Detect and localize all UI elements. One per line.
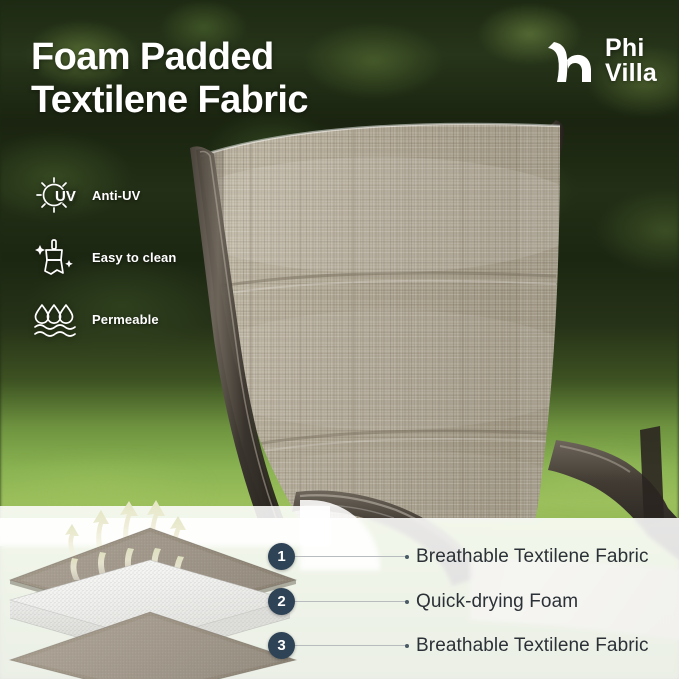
phi-villa-h-mark — [544, 36, 598, 86]
callout-layer-3: 3 Breathable Textilene Fabric — [268, 632, 649, 659]
leader-line-1 — [295, 556, 407, 557]
layer-label-3: Breathable Textilene Fabric — [416, 635, 649, 657]
feature-list: UV Anti-UV Easy to clean — [30, 164, 176, 350]
feature-label-anti-uv: Anti-UV — [92, 188, 140, 203]
brand-logo: Phi Villa — [544, 36, 657, 86]
feature-label-easy-to-clean: Easy to clean — [92, 250, 176, 265]
brush-sparkle-icon — [30, 233, 84, 281]
brand-line-2: Villa — [605, 61, 657, 86]
leader-line-2 — [295, 601, 407, 602]
callout-layer-2: 2 Quick-drying Foam — [268, 588, 578, 615]
feature-item-permeable: Permeable — [30, 288, 176, 350]
layer-number-badge-3: 3 — [268, 632, 295, 659]
uv-icon-text: UV — [55, 188, 76, 205]
leader-line-3 — [295, 645, 407, 646]
layer-label-2: Quick-drying Foam — [416, 591, 578, 613]
water-droplets-waves-icon — [30, 295, 84, 343]
layer-number-badge-1: 1 — [268, 543, 295, 570]
sun-uv-icon: UV — [30, 171, 84, 219]
layer-label-1: Breathable Textilene Fabric — [416, 546, 649, 568]
callout-layer-1: 1 Breathable Textilene Fabric — [268, 543, 649, 570]
page-title: Foam Padded Textilene Fabric — [31, 36, 308, 122]
feature-item-anti-uv: UV Anti-UV — [30, 164, 176, 226]
product-feature-image: Foam Padded Textilene Fabric Phi Villa — [0, 0, 679, 679]
layer-number-badge-2: 2 — [268, 588, 295, 615]
feature-item-easy-to-clean: Easy to clean — [30, 226, 176, 288]
layer-callouts: 1 Breathable Textilene Fabric 2 Quick-dr… — [0, 496, 679, 679]
feature-label-permeable: Permeable — [92, 312, 159, 327]
brand-name: Phi Villa — [605, 36, 657, 86]
brand-line-1: Phi — [605, 36, 657, 61]
